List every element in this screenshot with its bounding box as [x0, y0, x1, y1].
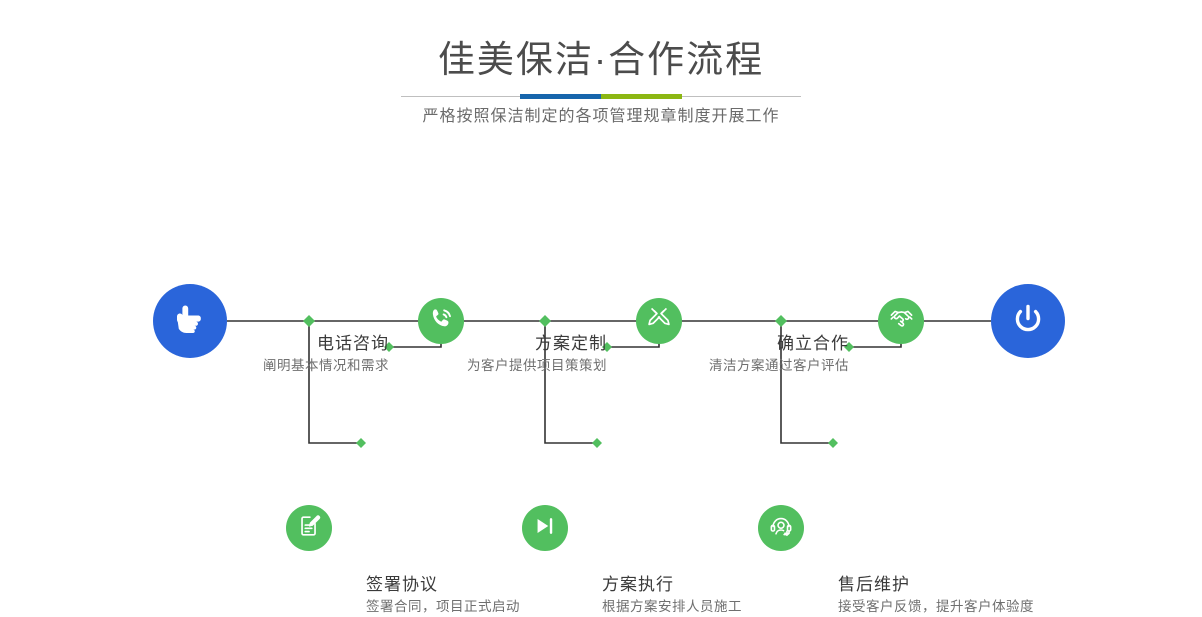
step-icon-sign-agreement[interactable] [286, 505, 332, 551]
page-subtitle: 严格按照保洁制定的各项管理规章制度开展工作 [0, 105, 1202, 129]
handshake-icon [888, 305, 915, 337]
step-text-after-sales-support: 售后维护 接受客户反馈，提升客户体验度 [838, 574, 1034, 617]
divider-accent-blue [520, 94, 601, 99]
step-icon-plan-execution[interactable] [522, 505, 568, 551]
step-desc: 根据方案安排人员施工 [602, 596, 742, 617]
step-text-sign-agreement: 签署协议 签署合同，项目正式启动 [366, 574, 520, 617]
process-flow-diagram: 电话咨询 阐明基本情况和需求 签署协议 签署合同，项目正式启动 [0, 150, 1202, 502]
step-text-establish-cooperation: 确立合作 清洁方案通过客户评估 [564, 333, 849, 376]
power-button-icon [1008, 299, 1048, 344]
play-execute-icon [532, 513, 558, 544]
step-title: 签署协议 [366, 574, 520, 596]
customer-support-icon [768, 513, 794, 544]
step-title: 方案执行 [602, 574, 742, 596]
title-divider [401, 93, 801, 100]
step-text-plan-execution: 方案执行 根据方案安排人员施工 [602, 574, 742, 617]
flow-end-node[interactable] [991, 284, 1065, 358]
step-icon-establish-cooperation[interactable] [878, 298, 924, 344]
divider-accent-green [601, 94, 682, 99]
page-title: 佳美保洁·合作流程 [0, 36, 1202, 84]
step-icon-after-sales-support[interactable] [758, 505, 804, 551]
step-desc: 接受客户反馈，提升客户体验度 [838, 596, 1034, 617]
step-title: 售后维护 [838, 574, 1034, 596]
step-desc: 签署合同，项目正式启动 [366, 596, 520, 617]
step-title: 确立合作 [564, 333, 849, 355]
page-header: 佳美保洁·合作流程 严格按照保洁制定的各项管理规章制度开展工作 [0, 0, 1202, 150]
document-sign-icon [296, 513, 322, 544]
step-desc: 清洁方案通过客户评估 [564, 355, 849, 376]
pencil-ruler-icon [646, 306, 672, 337]
